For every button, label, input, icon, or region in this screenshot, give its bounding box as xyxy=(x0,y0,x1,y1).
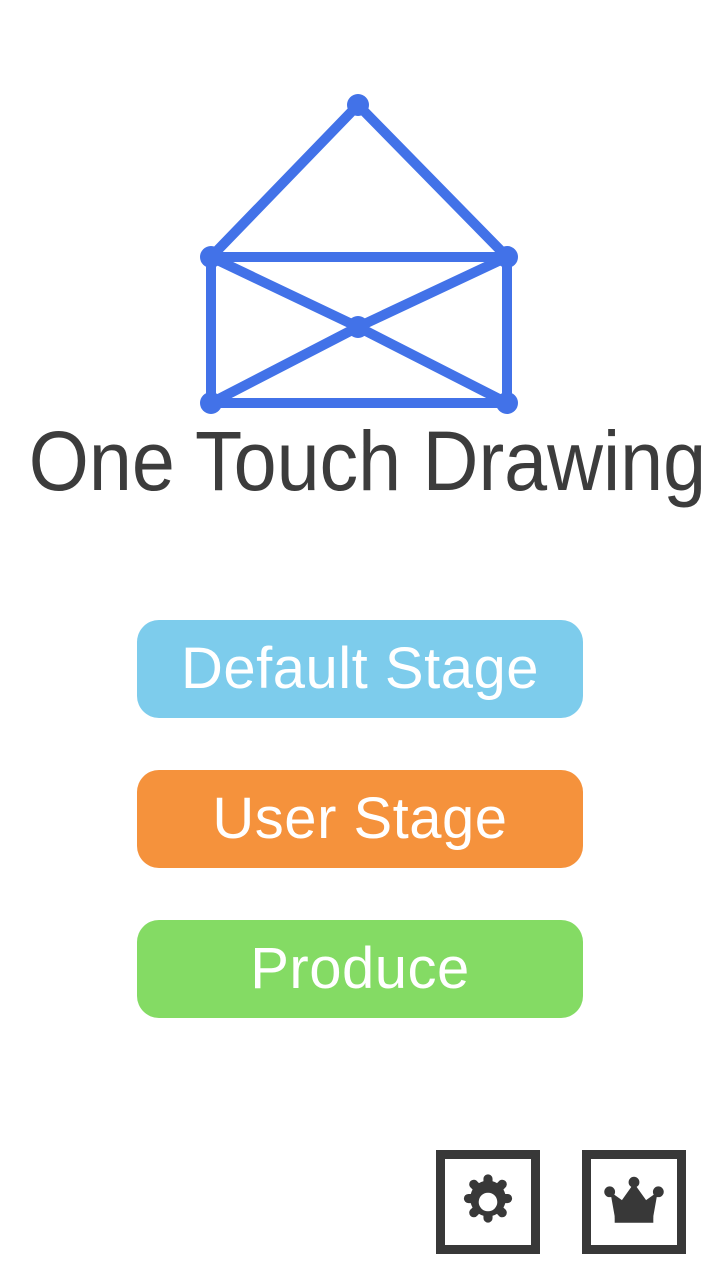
default-stage-button[interactable]: Default Stage xyxy=(137,620,583,718)
app-logo xyxy=(0,70,720,430)
logo-node-center xyxy=(347,316,369,338)
logo-node-bottom-left xyxy=(200,392,222,414)
user-stage-button[interactable]: User Stage xyxy=(137,770,583,868)
logo-node-apex xyxy=(347,94,369,116)
settings-button[interactable] xyxy=(436,1150,540,1254)
logo-edge xyxy=(211,327,358,403)
gear-icon xyxy=(457,1171,519,1233)
crown-icon xyxy=(603,1174,665,1230)
logo-edge xyxy=(358,105,507,257)
logo-edge xyxy=(211,105,358,257)
page-title: One Touch Drawing xyxy=(29,416,691,506)
logo-node-bottom-right xyxy=(496,392,518,414)
main-menu: Default Stage User Stage Produce xyxy=(137,620,583,1018)
logo-edge xyxy=(211,257,358,327)
logo-edges xyxy=(211,105,507,403)
logo-node-top-left xyxy=(200,246,222,268)
app-root: One Touch Drawing Default Stage User Sta… xyxy=(0,0,720,1280)
produce-button[interactable]: Produce xyxy=(137,920,583,1018)
envelope-graph-logo xyxy=(0,70,720,430)
logo-edge xyxy=(358,327,507,403)
logo-node-top-right xyxy=(496,246,518,268)
logo-edge xyxy=(358,257,507,327)
bottom-icon-bar xyxy=(0,1150,720,1260)
ranking-button[interactable] xyxy=(582,1150,686,1254)
